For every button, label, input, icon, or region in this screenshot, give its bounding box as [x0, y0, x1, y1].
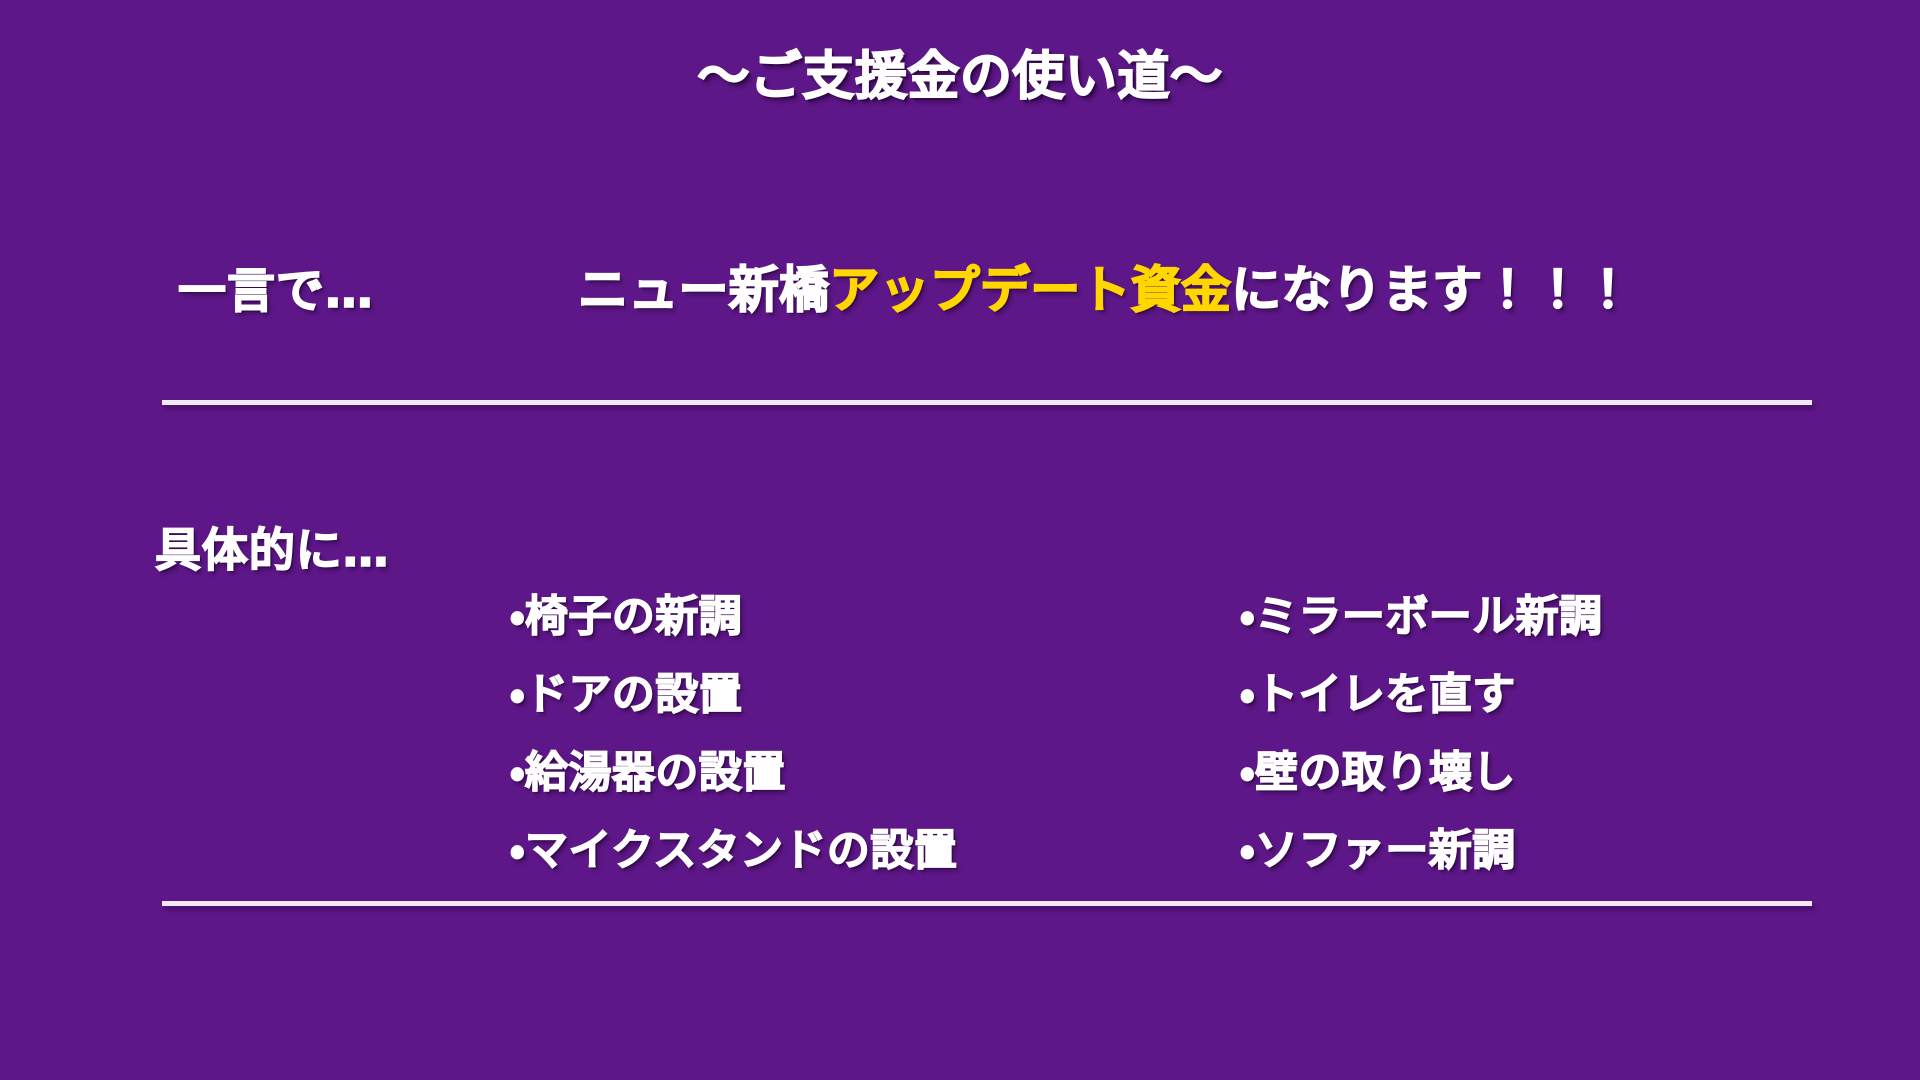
list-item: ・椅子の新調: [510, 578, 957, 656]
headline-row: 一言で… ニュー新橋 アップデート資金 になります！！！: [0, 246, 1920, 326]
details-label: 具体的に…: [155, 514, 390, 580]
list-item: ・ミラーボール新調: [1240, 578, 1603, 656]
list-item: ・壁の取り壊し: [1240, 734, 1603, 812]
presentation-slide: 〜ご支援金の使い道〜 一言で… ニュー新橋 アップデート資金 になります！！！ …: [0, 0, 1920, 1080]
headline-segment-suffix: になります！！！: [1231, 250, 1633, 322]
headline-segment-venue: ニュー新橋: [578, 250, 829, 322]
details-bullet-columns: ・椅子の新調 ・ドアの設置 ・給湯器の設置 ・マイクスタンドの設置 ・ミラーボー…: [0, 578, 1920, 878]
headline-segment-highlight: アップデート資金: [829, 250, 1231, 322]
bullet-column-right: ・ミラーボール新調 ・トイレを直す ・壁の取り壊し ・ソファー新調: [1240, 578, 1603, 890]
list-item: ・マイクスタンドの設置: [510, 812, 957, 890]
list-item: ・ドアの設置: [510, 656, 957, 734]
list-item: ・トイレを直す: [1240, 656, 1603, 734]
page-title: 〜ご支援金の使い道〜: [0, 34, 1920, 109]
divider-bottom: [162, 901, 1812, 906]
headline-main-statement: ニュー新橋 アップデート資金 になります！！！: [578, 246, 1633, 326]
divider-top: [162, 400, 1812, 405]
bullet-column-left: ・椅子の新調 ・ドアの設置 ・給湯器の設置 ・マイクスタンドの設置: [510, 578, 957, 890]
list-item: ・ソファー新調: [1240, 812, 1603, 890]
headline-lead-label: 一言で…: [178, 246, 374, 326]
list-item: ・給湯器の設置: [510, 734, 957, 812]
